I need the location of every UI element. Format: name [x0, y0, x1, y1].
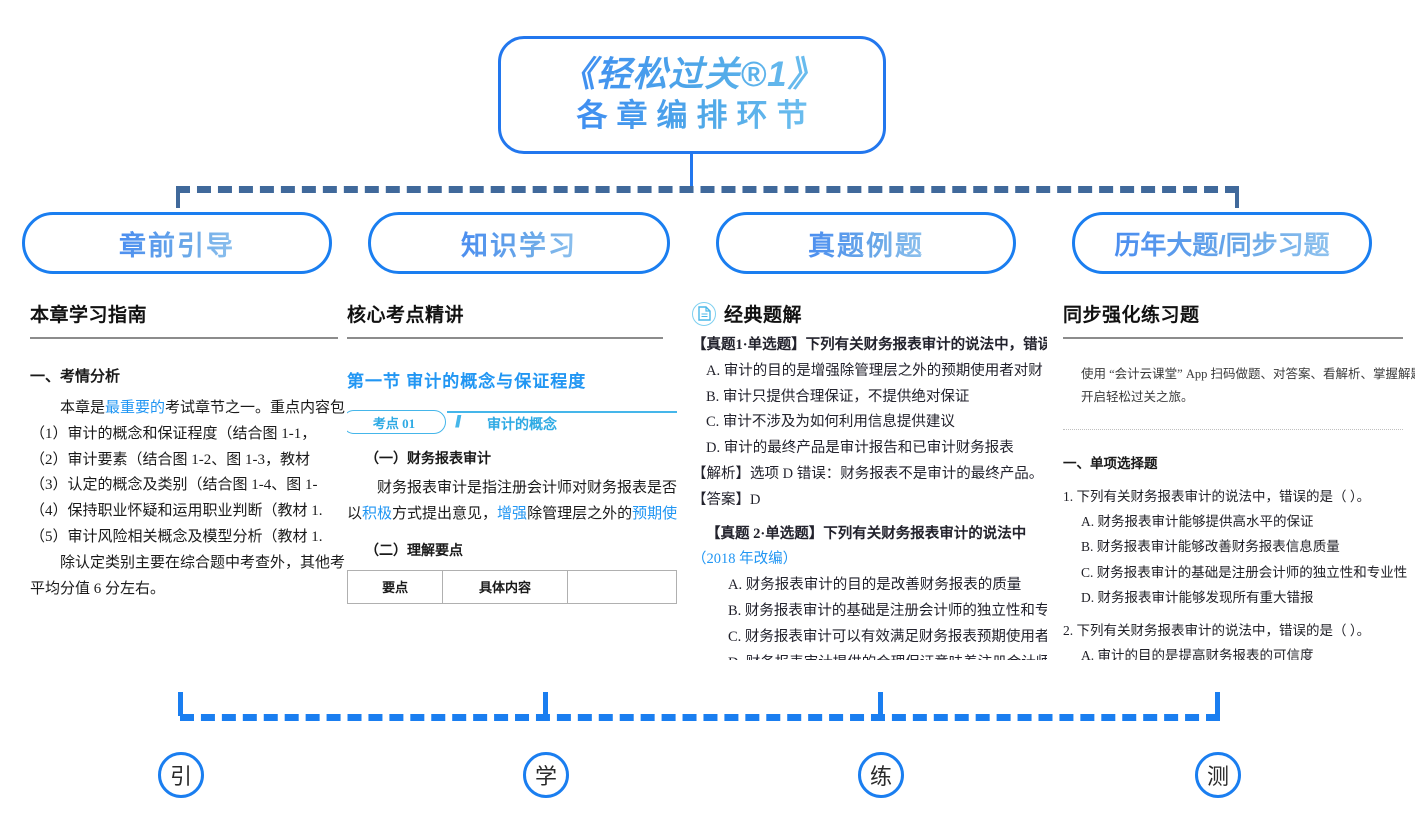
column2-subhead-2: （二）理解要点: [365, 540, 677, 560]
column1-paragraph: 除认定类别主要在综合题中考查外，其他考: [30, 551, 352, 577]
column4-question-option: A. 审计的目的是提高财务报表的可信度: [1063, 643, 1415, 660]
column-exam-examples: 经典题解 【真题1·单选题】下列有关财务报表审计的说法中，错误（ A. 审计的目…: [692, 300, 1047, 660]
bottom-connector-stem: [178, 692, 183, 716]
section-pill-label: 章前引导: [119, 224, 235, 263]
column3-q2-option: B. 财务报表审计的基础是注册会计师的独立性和专业: [692, 599, 1047, 625]
bottom-circle-lian[interactable]: 练: [858, 752, 904, 798]
column2-heading: 核心考点精讲: [347, 300, 677, 327]
column3-q1-option: D. 审计的最终产品是审计报告和已审计财务报表: [692, 436, 1047, 462]
column4-note-line2: 开启轻松过关之旅。: [1081, 386, 1415, 409]
kaodian-row: 考点 01 // 审计的概念: [347, 410, 677, 436]
table-header-cell: 要点: [348, 570, 443, 603]
column1-paragraph: 平均分值 6 分左右。: [30, 577, 352, 603]
column1-section-title: 一、考情分析: [30, 365, 352, 386]
column2-chapter-title: 第一节 审计的概念与保证程度: [347, 367, 677, 392]
bottom-dashed-connector: [180, 714, 1220, 721]
column2-divider: [347, 337, 663, 339]
column3-header: 经典题解: [692, 300, 1047, 327]
column1-paragraph: （5）审计风险相关概念及模型分析（教材 1.: [30, 525, 352, 551]
column3-q1-answer: 【答案】D: [692, 488, 1047, 514]
column1-paragraph: 本章是最重要的考试章节之一。重点内容包: [30, 396, 352, 422]
column3-q1-analysis: 【解析】选项 D 错误：财务报表不是审计的最终产品。: [692, 462, 1047, 488]
column3-q2-option: A. 财务报表审计的目的是改善财务报表的质量: [692, 573, 1047, 599]
section-pill-knowledge-study[interactable]: 知识学习: [368, 212, 670, 274]
section-pill-exam-examples[interactable]: 真题例题: [716, 212, 1016, 274]
column4-question-stem: 2. 下列有关财务报表审计的说法中，错误的是（ ）。: [1063, 618, 1415, 643]
main-title-line2: 各章编排环节: [568, 96, 817, 136]
column-chapter-intro: 本章学习指南 一、考情分析 本章是最重要的考试章节之一。重点内容包 （1）审计的…: [30, 300, 352, 660]
column3-q2-note: （2018 年改编）: [692, 547, 1047, 573]
column1-divider: [30, 337, 338, 339]
table-row: 要点 具体内容: [348, 570, 677, 603]
kaodian-badge: 考点 01: [347, 410, 446, 434]
column3-q1-option: C. 审计不涉及为如何利用信息提供建议: [692, 410, 1047, 436]
table-header-cell: 具体内容: [443, 570, 567, 603]
section-pill-label: 真题例题: [808, 224, 924, 263]
section-pill-label: 历年大题/同步习题: [1114, 225, 1329, 262]
column2-paragraph-2: 以积极方式提出意见，增强除管理层之外的预期使用者: [347, 502, 677, 528]
column4-dotted-divider: [1063, 429, 1403, 430]
kaodian-name: 审计的概念: [487, 414, 557, 434]
column-past-exercises: 同步强化练习题 使用 “会计云课堂” App 扫码做题、对答案、看解析、掌握解题…: [1063, 300, 1415, 660]
column1-highlight: 最重要的: [105, 400, 165, 416]
title-connector-stem: [690, 154, 693, 188]
section-pill-past-exercises[interactable]: 历年大题/同步习题: [1072, 212, 1372, 274]
kaodian-rule: [447, 411, 677, 413]
column4-heading: 同步强化练习题: [1063, 300, 1415, 327]
top-dashed-connector: [176, 186, 1239, 193]
column3-q1-stem: 【真题1·单选题】下列有关财务报表审计的说法中，错误（: [692, 333, 1047, 359]
column4-question-stem: 1. 下列有关财务报表审计的说法中，错误的是（ ）。: [1063, 484, 1415, 509]
column4-question-option: A. 财务报表审计能够提供高水平的保证: [1063, 509, 1415, 534]
bottom-circle-yin[interactable]: 引: [158, 752, 204, 798]
column2-paragraph-1: 财务报表审计是指注册会计师对财务报表是否不: [347, 476, 677, 502]
kaodian-slash-icon: //: [455, 412, 458, 432]
bottom-connector-stem: [543, 692, 548, 716]
column3-q2-stem: 【真题 2·单选题】下列有关财务报表审计的说法中: [692, 522, 1047, 548]
column4-question-option: D. 财务报表审计能够发现所有重大错报: [1063, 585, 1415, 610]
column2-table: 要点 具体内容: [347, 570, 677, 604]
column3-q2-option: C. 财务报表审计可以有效满足财务报表预期使用者的: [692, 625, 1047, 651]
column3-q1-option: B. 审计只提供合理保证，不提供绝对保证: [692, 385, 1047, 411]
bottom-connector-stem: [878, 692, 883, 716]
bottom-circle-xue[interactable]: 学: [523, 752, 569, 798]
section-pill-label: 知识学习: [461, 224, 577, 263]
column1-paragraph: （4）保持职业怀疑和运用职业判断（教材 1.: [30, 499, 352, 525]
column1-paragraph: （2）审计要素（结合图 1-2、图 1-3，教材: [30, 448, 352, 474]
bottom-connector-stem: [1215, 692, 1220, 716]
column4-question-option: C. 财务报表审计的基础是注册会计师的独立性和专业性: [1063, 560, 1415, 585]
column4-note-line1: 使用 “会计云课堂” App 扫码做题、对答案、看解析、掌握解题思路: [1081, 363, 1415, 386]
bottom-circle-ce[interactable]: 测: [1195, 752, 1241, 798]
column1-heading: 本章学习指南: [30, 300, 352, 327]
table-header-cell-empty: [567, 570, 676, 603]
column4-section-title: 一、单项选择题: [1063, 452, 1415, 472]
top-connector-left-drop: [176, 186, 180, 208]
section-pill-chapter-intro[interactable]: 章前引导: [22, 212, 332, 274]
column4-question-option: B. 财务报表审计能够改善财务报表信息质量: [1063, 534, 1415, 559]
main-title-box: 《轻松过关®1》 各章编排环节: [498, 36, 886, 154]
column2-subhead-1: （一）财务报表审计: [365, 448, 677, 468]
column1-paragraph: （3）认定的概念及类别（结合图 1-4、图 1-: [30, 473, 352, 499]
column3-heading: 经典题解: [724, 300, 802, 327]
column3-q1-option: A. 审计的目的是增强除管理层之外的预期使用者对财: [692, 359, 1047, 385]
column1-paragraph: （1）审计的概念和保证程度（结合图 1-1，: [30, 422, 352, 448]
main-title-line1: 《轻松过关®1》: [560, 54, 823, 97]
top-connector-right-drop: [1235, 186, 1239, 208]
column-knowledge-study: 核心考点精讲 第一节 审计的概念与保证程度 考点 01 // 审计的概念 （一）…: [347, 300, 677, 660]
column4-divider: [1063, 337, 1403, 339]
document-icon: [692, 302, 716, 326]
column3-q2-option: D. 财务报表审计提供的合理保证意味着注册会计师可: [692, 651, 1047, 660]
